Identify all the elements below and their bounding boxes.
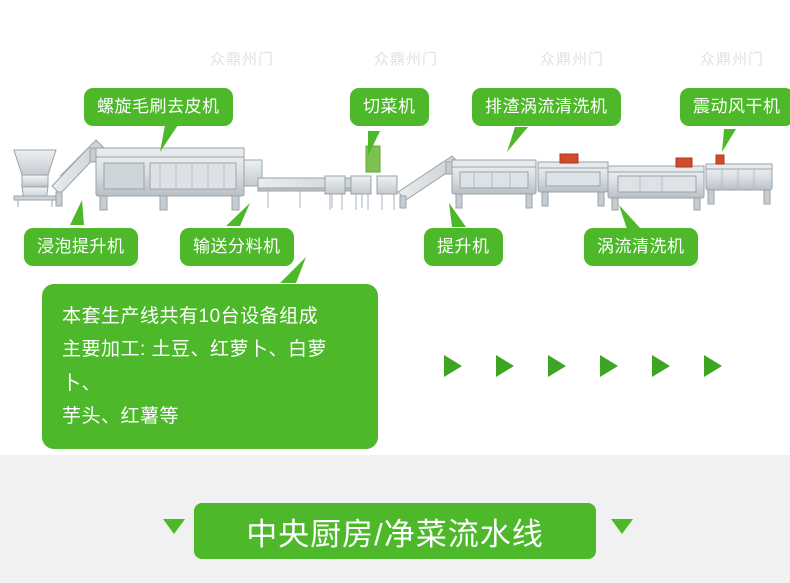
description-line-1: 本套生产线共有10台设备组成 — [62, 300, 358, 333]
description-line-3: 芋头、红薯等 — [62, 400, 358, 433]
flow-arrows — [430, 355, 730, 385]
banner: 中央厨房/净菜流水线 — [194, 503, 596, 559]
label-spiral-brush-peeler[interactable]: 螺旋毛刷去皮机 — [84, 88, 233, 126]
label-conveying-distributor[interactable]: 输送分料机 — [180, 228, 294, 266]
banner-text: 中央厨房/净菜流水线 — [246, 509, 544, 554]
label-elevator[interactable]: 提升机 — [424, 228, 503, 266]
flow-arrow-2 — [496, 355, 514, 377]
bottom-band: 中央厨房/净菜流水线 — [0, 455, 790, 583]
triangle-right-icon — [611, 519, 633, 534]
description-bubble: 本套生产线共有10台设备组成 主要加工: 土豆、红萝卜、白萝卜、 芋头、红薯等 — [42, 284, 378, 449]
flow-arrow-6 — [704, 355, 722, 377]
label-vortex-washer[interactable]: 涡流清洗机 — [584, 228, 698, 266]
triangle-left-icon — [163, 519, 185, 534]
description-line-2: 主要加工: 土豆、红萝卜、白萝卜、 — [62, 333, 358, 400]
flow-arrow-3 — [548, 355, 566, 377]
flow-arrow-4 — [600, 355, 618, 377]
label-soaking-elevator[interactable]: 浸泡提升机 — [24, 228, 138, 266]
flow-arrow-1 — [444, 355, 462, 377]
production-line-diagram: 众鼎州门 众鼎州门 众鼎州门 众鼎州门 — [0, 0, 790, 455]
flow-arrow-5 — [652, 355, 670, 377]
label-vegetable-cutter[interactable]: 切菜机 — [350, 88, 429, 126]
label-vibrating-air-dryer[interactable]: 震动风干机 — [680, 88, 790, 126]
diagram-page: 众鼎州门 众鼎州门 众鼎州门 众鼎州门 — [0, 0, 790, 583]
label-slag-discharge-vortex-washer[interactable]: 排渣涡流清洗机 — [472, 88, 621, 126]
